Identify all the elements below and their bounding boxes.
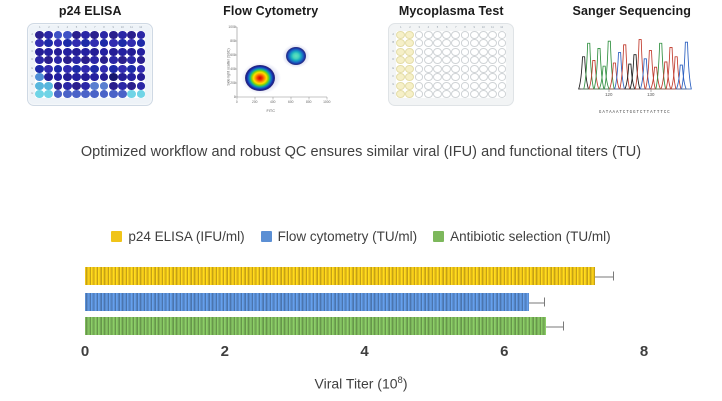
plate-well — [72, 90, 81, 98]
plate-well — [81, 31, 90, 39]
plate-well — [137, 73, 146, 81]
plate-well — [433, 65, 442, 73]
plate-well — [415, 90, 424, 98]
plate-well — [127, 82, 136, 90]
figure-caption: Optimized workflow and robust QC ensures… — [0, 144, 722, 160]
plate-well — [118, 90, 127, 98]
plate-well — [479, 73, 488, 81]
plate-well — [498, 31, 507, 39]
panel-sanger-sequencing: Sanger Sequencing 120130 GATAAATCTGGTCTT… — [542, 0, 722, 135]
plate-well — [424, 48, 433, 56]
plate-well — [118, 48, 127, 56]
plate-well — [118, 73, 127, 81]
plate-well — [81, 65, 90, 73]
plate-well — [442, 48, 451, 56]
sanger-trace — [571, 23, 693, 103]
plate-well — [72, 48, 81, 56]
plate-well — [479, 56, 488, 64]
chart-bar-row — [85, 317, 546, 335]
legend-item[interactable]: Antibiotic selection (TU/ml) — [433, 229, 611, 244]
plate-well — [35, 31, 44, 39]
plate-well — [35, 82, 44, 90]
plate-well — [405, 65, 414, 73]
plate-well — [396, 56, 405, 64]
plate-well — [72, 73, 81, 81]
plate-well — [415, 39, 424, 47]
plate-well — [81, 90, 90, 98]
plate-well — [470, 39, 479, 47]
plate-well — [63, 90, 72, 98]
plate-well — [461, 56, 470, 64]
plate-well — [433, 39, 442, 47]
plate-well — [127, 65, 136, 73]
x-tick-label: 4 — [360, 343, 368, 360]
plate-well — [442, 31, 451, 39]
plate-well — [127, 48, 136, 56]
plate-well — [137, 48, 146, 56]
plate-well — [90, 39, 99, 47]
sanger-peak — [650, 67, 660, 89]
plate-well — [54, 39, 63, 47]
plate-well — [44, 65, 53, 73]
plate-well — [461, 65, 470, 73]
plate-well — [451, 39, 460, 47]
legend-color-swatch — [433, 231, 444, 242]
plate-well — [479, 82, 488, 90]
plate-well — [63, 73, 72, 81]
plate-well — [44, 56, 53, 64]
plate-well — [81, 56, 90, 64]
plate-well — [100, 31, 109, 39]
plate-well — [461, 31, 470, 39]
plate-well — [396, 39, 405, 47]
plate-well — [127, 56, 136, 64]
plate-well — [35, 73, 44, 81]
plate-well — [127, 90, 136, 98]
plate-well — [424, 31, 433, 39]
plate-well — [100, 82, 109, 90]
plate-well — [405, 56, 414, 64]
plate-well — [109, 90, 118, 98]
plate-well — [54, 90, 63, 98]
plate-well — [433, 90, 442, 98]
plate-well — [396, 31, 405, 39]
plate-well — [470, 48, 479, 56]
plate-well — [451, 90, 460, 98]
plate-well — [35, 56, 44, 64]
plate-well — [72, 82, 81, 90]
microplate-mycoplasma: 123456789101112 ABCDEFGH — [388, 23, 514, 106]
plate-well — [461, 48, 470, 56]
flow-density-scatter — [211, 23, 331, 111]
plate-well — [81, 82, 90, 90]
plate-well — [415, 56, 424, 64]
plate-well — [63, 56, 72, 64]
plate-well — [405, 48, 414, 56]
plate-well — [396, 90, 405, 98]
plate-well — [433, 82, 442, 90]
x-axis-label-base: Viral Titer (10 — [315, 376, 398, 392]
plate-well — [90, 56, 99, 64]
plate-well — [470, 90, 479, 98]
plate-well — [63, 48, 72, 56]
plate-well — [44, 48, 53, 56]
plate-well — [405, 90, 414, 98]
microplate-elisa: 123456789101112 ABCDEFGH — [27, 23, 153, 106]
plate-well — [451, 65, 460, 73]
plate-well — [118, 56, 127, 64]
plate-well — [451, 31, 460, 39]
panel-title-p24-elisa: p24 ELISA — [59, 4, 122, 18]
plate-well — [479, 65, 488, 73]
panel-title-sanger-sequencing: Sanger Sequencing — [573, 4, 691, 18]
plate-well — [488, 65, 497, 73]
plate-well — [433, 48, 442, 56]
plate-well — [461, 39, 470, 47]
plate-well — [63, 65, 72, 73]
plate-well — [100, 48, 109, 56]
plate-well — [415, 73, 424, 81]
plate-well — [118, 65, 127, 73]
plate-well — [63, 82, 72, 90]
chart-error-bar — [546, 322, 564, 331]
plate-well — [396, 82, 405, 90]
mycoplasma-plate-image: 123456789101112 ABCDEFGH — [388, 23, 514, 106]
panel-mycoplasma-test: Mycoplasma Test 123456789101112 ABCDEFGH — [361, 0, 542, 135]
plate-well — [442, 73, 451, 81]
plate-well — [442, 39, 451, 47]
plate-well — [488, 73, 497, 81]
plate-well — [396, 65, 405, 73]
plate-well — [44, 73, 53, 81]
plate-well — [488, 31, 497, 39]
plate-well — [54, 31, 63, 39]
legend-label: Antibiotic selection (TU/ml) — [450, 229, 611, 244]
plate-well — [433, 31, 442, 39]
plate-well — [100, 56, 109, 64]
plate-well — [72, 65, 81, 73]
legend-color-swatch — [261, 231, 272, 242]
plate-well — [44, 90, 53, 98]
sanger-peak — [681, 42, 691, 89]
plate-well — [72, 56, 81, 64]
plate-well — [405, 31, 414, 39]
plate-well — [137, 56, 146, 64]
plate-well — [470, 65, 479, 73]
plate-well — [451, 56, 460, 64]
plate-well — [498, 65, 507, 73]
x-tick-label: 6 — [500, 343, 508, 360]
plate-well — [54, 56, 63, 64]
plate-well — [35, 90, 44, 98]
plate-well — [451, 48, 460, 56]
plate-well — [118, 82, 127, 90]
plate-well — [35, 39, 44, 47]
plate-well — [72, 31, 81, 39]
plate-well — [415, 82, 424, 90]
plate-well — [470, 73, 479, 81]
plate-well — [488, 48, 497, 56]
plate-well — [461, 73, 470, 81]
sanger-peak — [599, 66, 609, 89]
plate-well — [479, 31, 488, 39]
plate-well — [470, 56, 479, 64]
plate-well — [498, 48, 507, 56]
plate-well — [451, 82, 460, 90]
plate-well — [470, 82, 479, 90]
plate-well — [44, 31, 53, 39]
plate-well — [100, 73, 109, 81]
chart-x-axis-label: Viral Titer (108) — [0, 375, 722, 392]
viral-titer-bar-chart: p24 ELISA (IFU/ml)Flow cytometry (TU/ml)… — [0, 215, 722, 401]
plate-well — [54, 65, 63, 73]
plate-well — [127, 73, 136, 81]
plate-well — [81, 39, 90, 47]
plate-well — [90, 90, 99, 98]
plate-well — [137, 90, 146, 98]
plate-well — [127, 31, 136, 39]
plate-well — [44, 39, 53, 47]
plate-well — [479, 48, 488, 56]
plate-well — [109, 82, 118, 90]
plate-well — [109, 39, 118, 47]
plate-well — [405, 73, 414, 81]
chart-bar[interactable] — [85, 267, 595, 285]
plate-well — [498, 82, 507, 90]
plate-well — [442, 82, 451, 90]
plate-well — [424, 39, 433, 47]
plate-well — [461, 90, 470, 98]
sanger-peak — [604, 41, 614, 89]
panel-p24-elisa: p24 ELISA 123456789101112 ABCDEFGH — [0, 0, 181, 135]
plate-well — [137, 31, 146, 39]
plate-well — [470, 31, 479, 39]
sanger-plot-area: 120130 GATAAATCTGGTCTTATTTCC — [571, 23, 693, 115]
flow-cytometry-plot-image: Side light scatter (SSC) FITC 0200400600… — [211, 23, 331, 111]
plate-well — [415, 48, 424, 56]
plate-well — [90, 82, 99, 90]
plate-well — [118, 39, 127, 47]
plate-well — [35, 48, 44, 56]
chart-error-bar — [529, 298, 545, 307]
plate-wells-grid — [35, 31, 145, 98]
plate-well — [63, 31, 72, 39]
plate-well — [424, 90, 433, 98]
plate-well — [442, 65, 451, 73]
plate-well — [442, 90, 451, 98]
plate-well — [488, 90, 497, 98]
plate-well — [461, 82, 470, 90]
plate-well — [498, 39, 507, 47]
plate-well — [109, 56, 118, 64]
plate-well — [137, 82, 146, 90]
plate-well — [90, 65, 99, 73]
plate-well — [100, 39, 109, 47]
plate-well — [498, 56, 507, 64]
legend-item[interactable]: Flow cytometry (TU/ml) — [261, 229, 418, 244]
plate-well — [479, 90, 488, 98]
plate-well — [488, 56, 497, 64]
chart-bar-row — [85, 267, 595, 285]
plate-well — [90, 48, 99, 56]
plate-well — [498, 90, 507, 98]
plate-well — [137, 39, 146, 47]
plate-well — [451, 73, 460, 81]
plate-well — [54, 48, 63, 56]
plate-well — [63, 39, 72, 47]
panel-flow-cytometry: Flow Cytometry Side light scatter (SSC) … — [181, 0, 362, 135]
plate-well — [396, 73, 405, 81]
chart-bar-row — [85, 293, 529, 311]
plate-well — [424, 73, 433, 81]
qc-panel-row: p24 ELISA 123456789101112 ABCDEFGH Flow … — [0, 0, 722, 135]
plate-well — [415, 65, 424, 73]
plate-well — [433, 73, 442, 81]
plate-well — [415, 31, 424, 39]
plate-well — [100, 90, 109, 98]
legend-item[interactable]: p24 ELISA (IFU/ml) — [111, 229, 244, 244]
flow-plot-area: Side light scatter (SSC) FITC 0200400600… — [211, 23, 331, 111]
chart-bar[interactable] — [85, 317, 546, 335]
chart-bar[interactable] — [85, 293, 529, 311]
plate-well — [424, 56, 433, 64]
plate-well — [424, 65, 433, 73]
plate-well — [90, 73, 99, 81]
plate-well — [405, 82, 414, 90]
plate-well — [488, 82, 497, 90]
plate-wells-grid — [396, 31, 506, 98]
legend-label: Flow cytometry (TU/ml) — [278, 229, 418, 244]
panel-title-flow-cytometry: Flow Cytometry — [223, 4, 318, 18]
plate-well — [127, 39, 136, 47]
plate-well — [488, 39, 497, 47]
plate-well — [405, 39, 414, 47]
x-tick-label: 0 — [81, 343, 89, 360]
plate-well — [498, 73, 507, 81]
sanger-chromatogram-image: 120130 GATAAATCTGGTCTTATTTCC — [571, 23, 693, 115]
legend-color-swatch — [111, 231, 122, 242]
plate-well — [81, 73, 90, 81]
plate-well — [137, 65, 146, 73]
plate-well — [44, 82, 53, 90]
plate-well — [54, 82, 63, 90]
plate-well — [109, 48, 118, 56]
chart-error-bar — [595, 272, 614, 281]
sanger-base-sequence: GATAAATCTGGTCTTATTTCC — [579, 111, 691, 115]
plate-well — [72, 39, 81, 47]
chart-plot-area — [0, 257, 722, 349]
plate-well — [35, 65, 44, 73]
plate-well — [479, 39, 488, 47]
chart-x-axis: 02468 — [0, 343, 722, 369]
plate-well — [109, 73, 118, 81]
plate-well — [81, 48, 90, 56]
sanger-x-tick-label: 120 — [605, 92, 612, 97]
plate-well — [433, 56, 442, 64]
x-axis-label-close: ) — [403, 376, 408, 392]
x-tick-label: 2 — [221, 343, 229, 360]
plate-well — [396, 48, 405, 56]
plate-well — [424, 82, 433, 90]
sanger-x-tick-label: 130 — [647, 92, 654, 97]
panel-title-mycoplasma-test: Mycoplasma Test — [399, 4, 504, 18]
plate-well — [109, 31, 118, 39]
p24-elisa-plate-image: 123456789101112 ABCDEFGH — [27, 23, 153, 106]
plate-well — [54, 73, 63, 81]
plate-well — [118, 31, 127, 39]
plate-well — [109, 65, 118, 73]
plate-well — [100, 65, 109, 73]
plate-well — [442, 56, 451, 64]
chart-legend: p24 ELISA (IFU/ml)Flow cytometry (TU/ml)… — [0, 229, 722, 244]
legend-label: p24 ELISA (IFU/ml) — [128, 229, 244, 244]
plate-well — [90, 31, 99, 39]
x-tick-label: 8 — [640, 343, 648, 360]
